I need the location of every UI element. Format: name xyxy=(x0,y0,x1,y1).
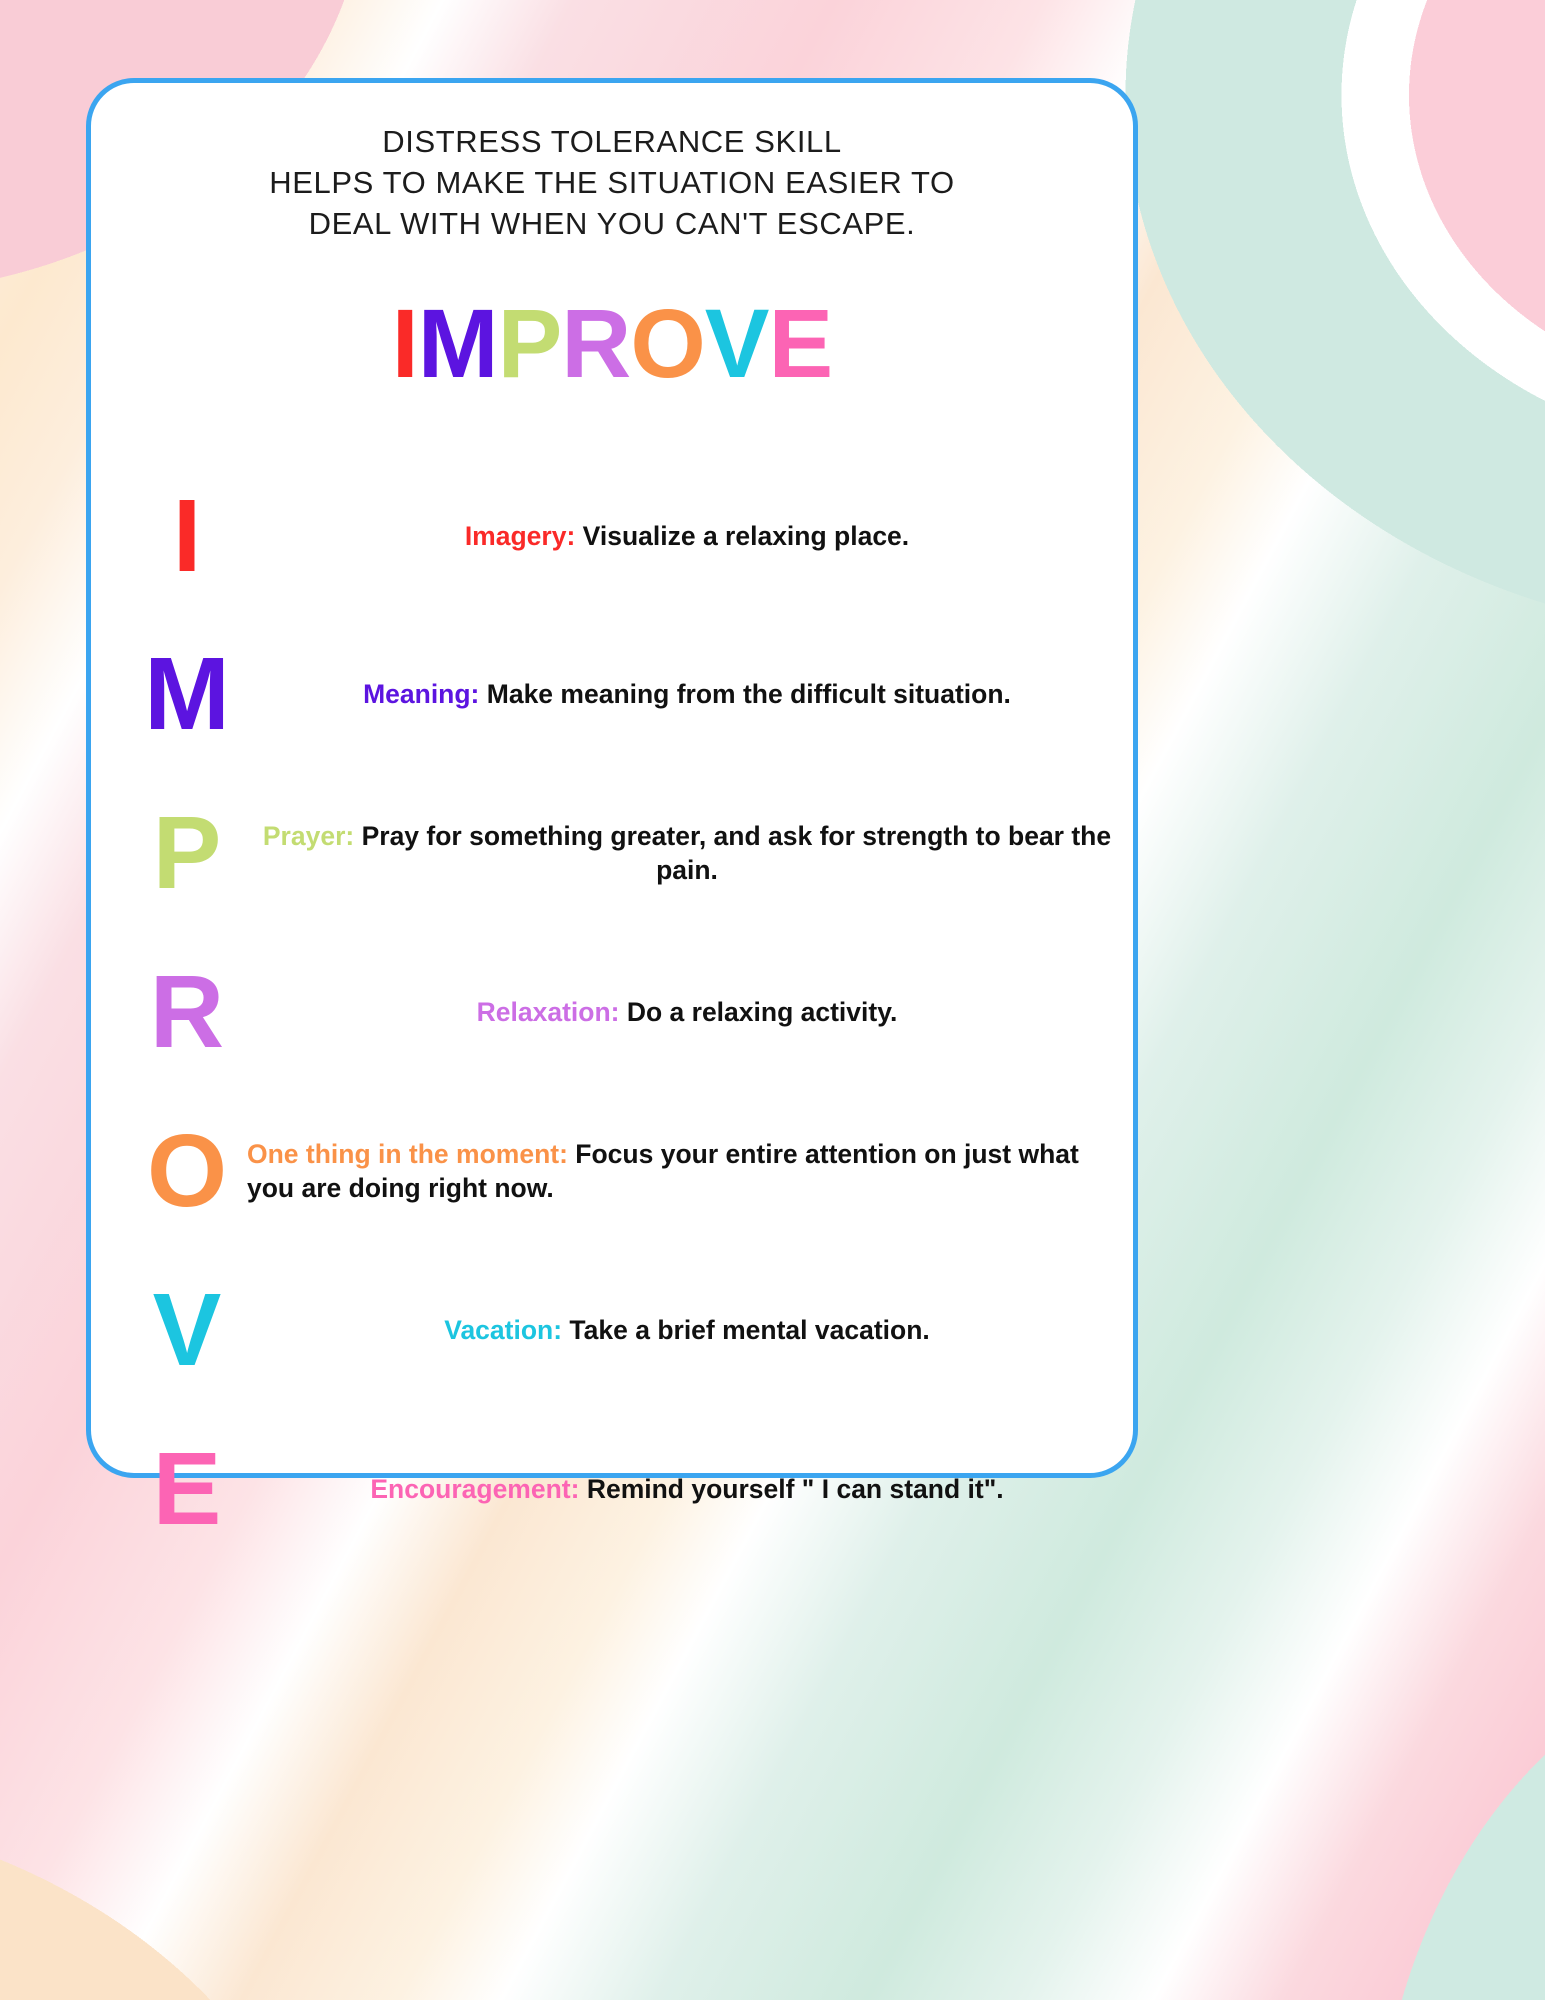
list-item: VVacation: Take a brief mental vacation. xyxy=(91,1260,1133,1400)
item-letter-m: M xyxy=(127,642,247,745)
poster-canvas: DISTRESS TOLERANCE SKILL HELPS TO MAKE T… xyxy=(0,0,1545,2000)
page-title: DISTRESS TOLERANCE SKILL HELPS TO MAKE T… xyxy=(91,121,1133,244)
item-letter-i: I xyxy=(127,484,247,587)
item-text: Prayer: Pray for something greater, and … xyxy=(247,819,1127,887)
content-card: DISTRESS TOLERANCE SKILL HELPS TO MAKE T… xyxy=(86,78,1138,1478)
item-text: Vacation: Take a brief mental vacation. xyxy=(247,1313,1127,1347)
item-description: Pray for something greater, and ask for … xyxy=(354,821,1111,885)
list-item: MMeaning: Make meaning from the difficul… xyxy=(91,624,1133,764)
item-term: Meaning: xyxy=(363,679,479,709)
item-text: Imagery: Visualize a relaxing place. xyxy=(247,519,1127,553)
acronym-letter-o-4: O xyxy=(630,289,704,398)
list-item: EEncouragement: Remind yourself " I can … xyxy=(91,1419,1133,1559)
item-text: One thing in the moment: Focus your enti… xyxy=(247,1137,1127,1205)
acronym-letter-v-5: V xyxy=(705,289,769,398)
item-letter-r: R xyxy=(127,960,247,1063)
item-letter-o: O xyxy=(127,1119,247,1222)
item-term: One thing in the moment: xyxy=(247,1139,568,1169)
item-description: Take a brief mental vacation. xyxy=(562,1315,930,1345)
list-item: RRelaxation: Do a relaxing activity. xyxy=(91,942,1133,1082)
item-description: Remind yourself " I can stand it". xyxy=(579,1474,1003,1504)
item-term: Vacation: xyxy=(444,1315,562,1345)
list-item: IImagery: Visualize a relaxing place. xyxy=(91,466,1133,606)
acronym-letter-e-6: E xyxy=(768,289,832,398)
item-term: Encouragement: xyxy=(370,1474,579,1504)
item-text: Meaning: Make meaning from the difficult… xyxy=(247,677,1127,711)
item-letter-e: E xyxy=(127,1437,247,1540)
item-term: Imagery: xyxy=(465,521,575,551)
item-letter-v: V xyxy=(127,1278,247,1381)
item-description: Do a relaxing activity. xyxy=(619,997,897,1027)
item-letter-p: P xyxy=(127,801,247,904)
acronym-letter-m-1: M xyxy=(418,289,498,398)
list-item: PPrayer: Pray for something greater, and… xyxy=(91,783,1133,923)
list-item: OOne thing in the moment: Focus your ent… xyxy=(91,1101,1133,1241)
item-text: Encouragement: Remind yourself " I can s… xyxy=(247,1472,1127,1506)
acronym-letter-p-2: P xyxy=(498,289,562,398)
item-term: Relaxation: xyxy=(477,997,620,1027)
item-text: Relaxation: Do a relaxing activity. xyxy=(247,995,1127,1029)
acronym-letter-r-3: R xyxy=(561,289,630,398)
acronym-title: IMPROVE xyxy=(91,295,1133,392)
item-description: Visualize a relaxing place. xyxy=(575,521,909,551)
item-term: Prayer: xyxy=(263,821,354,851)
item-description: Make meaning from the difficult situatio… xyxy=(479,679,1011,709)
acronym-letter-i-0: I xyxy=(392,289,418,398)
